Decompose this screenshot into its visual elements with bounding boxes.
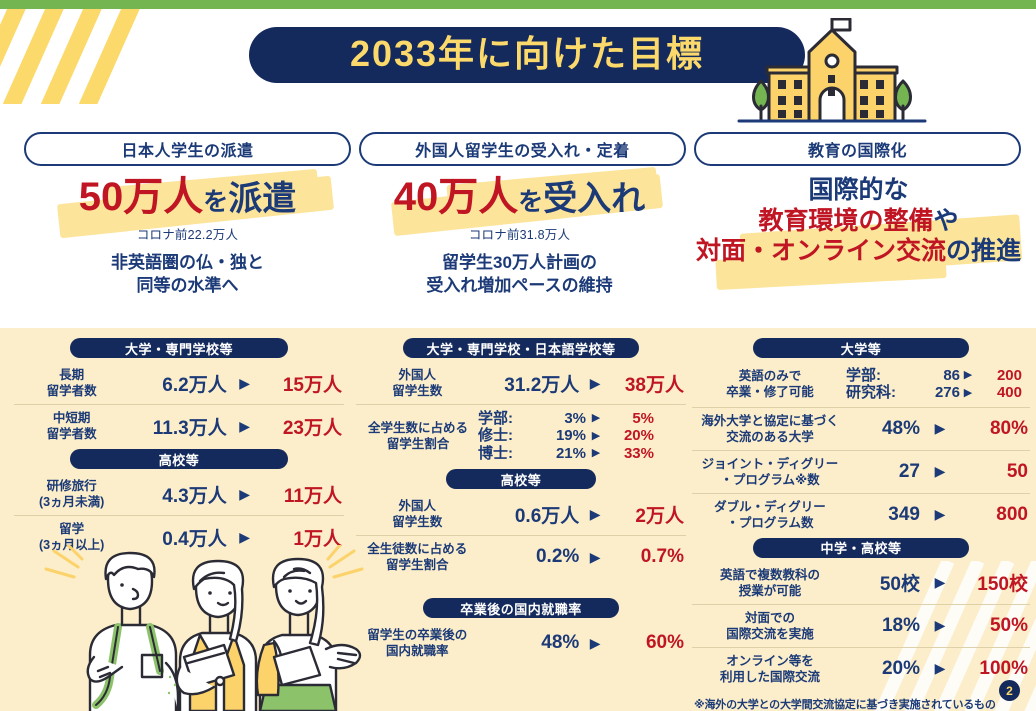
current-value: 48% xyxy=(477,632,580,654)
headline-subnote: コロナ前22.2万人 xyxy=(20,224,355,243)
tab-japanese-students-dispatch[interactable]: 日本人学生の派遣 xyxy=(24,132,351,166)
target-value: 60% xyxy=(611,632,684,654)
section-caption: 高校等 xyxy=(446,469,596,489)
column-foreign-students-acceptance: 大学・専門学校・日本語学校等 外国人 留学生数 31.2万人 ▶ 38万人 全学… xyxy=(356,338,686,664)
arrow-right-icon: ▶ xyxy=(227,418,263,435)
table-row: ダブル・ディグリー ・プログラム数 349 ▶ 800 xyxy=(692,494,1030,536)
current-value: 50校 xyxy=(846,569,920,596)
current-value: 0.2% xyxy=(477,546,580,568)
row-label: 全学生数に占める 留学生割合 xyxy=(358,420,478,452)
row-label-line1: 英語で複数教科の xyxy=(694,567,846,583)
row-label-line2: 留学生数 xyxy=(358,514,477,530)
row-label-line1: 留学生の卒業後の xyxy=(358,627,477,643)
headline-line2-b: や xyxy=(934,207,959,235)
sub-target: 5% xyxy=(606,410,654,427)
tab-label: 日本人学生の派遣 xyxy=(121,137,253,161)
row-label-line2: 留学生割合 xyxy=(358,436,478,452)
sub-current: 19% xyxy=(534,427,586,444)
headline-number: 50 xyxy=(79,175,124,219)
headline-verb: 派遣 xyxy=(228,180,296,218)
row-label-line2: 留学生割合 xyxy=(358,557,477,573)
headline-line1-b: な xyxy=(884,176,909,204)
current-value: 31.2万人 xyxy=(477,370,580,397)
sub-row: 学部: 86 ▶ 200 xyxy=(846,367,1022,384)
target-value: 23万人 xyxy=(262,413,342,440)
row-label-line2: 国際交流を実施 xyxy=(694,626,846,642)
table-row: 外国人 留学生数 31.2万人 ▶ 38万人 xyxy=(356,362,686,405)
current-value: 48% xyxy=(846,418,920,440)
target-value: 800 xyxy=(960,504,1028,526)
row-label: ジョイント・ディグリー ・プログラム※数 xyxy=(694,456,846,488)
row-label-line1: 対面での xyxy=(694,610,846,626)
arrow-right-icon: ▶ xyxy=(920,574,960,591)
target-value: 2万人 xyxy=(611,501,684,528)
row-label-line2: ・プログラム数 xyxy=(694,515,846,531)
arrow-right-icon: ▶ xyxy=(579,375,611,392)
column-japanese-students-dispatch: 大学・専門学校等 長期 留学者数 6.2万人 ▶ 15万人 中短期 留学者数 1… xyxy=(14,338,344,558)
row-label-line1: 英語のみで xyxy=(694,368,846,384)
arrow-right-icon: ▶ xyxy=(227,375,263,392)
sub-key: 学部: xyxy=(846,367,908,384)
arrow-right-icon: ▶ xyxy=(579,506,611,523)
row-label: 英語のみで 卒業・修了可能 xyxy=(694,368,846,400)
slide-title-banner: 2033年に向けた目標 xyxy=(249,27,805,83)
headline-dispatch: 50万人を派遣 コロナ前22.2万人 非英語圏の仏・独と 同等の水準へ xyxy=(20,176,355,297)
sub-row: 研究科: 276 ▶ 400 xyxy=(846,384,1022,401)
sub-target: 20% xyxy=(606,427,654,444)
arrow-right-icon: ▶ xyxy=(227,529,263,546)
row-sub-values: 学部: 86 ▶ 200 研究科: 276 ▶ 400 xyxy=(846,367,1022,402)
sub-current: 21% xyxy=(534,445,586,462)
table-row: 中短期 留学者数 11.3万人 ▶ 23万人 xyxy=(14,405,344,447)
current-value: 4.3万人 xyxy=(127,481,226,508)
table-row: 留学生の卒業後の 国内就職率 48% ▶ 60% xyxy=(356,622,686,664)
arrow-right-icon: ▶ xyxy=(586,412,606,425)
row-sub-values: 学部: 3% ▶ 5% 修士: 19% ▶ 20% 博士: 21% ▶ xyxy=(478,410,654,462)
headline-line2-a: 教育環境の整備 xyxy=(758,207,933,235)
row-label-line2: 留学者数 xyxy=(16,426,127,442)
table-row: 全生徒数に占める 留学生割合 0.2% ▶ 0.7% xyxy=(356,536,686,578)
row-label: 外国人 留学生数 xyxy=(358,367,477,399)
sub-current: 3% xyxy=(534,410,586,427)
headline-unit: 万人 xyxy=(123,175,203,219)
arrow-right-icon: ▶ xyxy=(920,506,960,523)
section-caption: 大学・専門学校等 xyxy=(70,338,288,358)
arrow-right-icon: ▶ xyxy=(227,486,263,503)
headline-line3: 対面・オンライン交流の推進 xyxy=(686,236,1031,266)
headline-verb: 受入れ xyxy=(543,180,645,218)
row-label: 中短期 留学者数 xyxy=(16,410,127,442)
row-label-line2: 国内就職率 xyxy=(358,643,477,659)
row-label-line1: 中短期 xyxy=(16,410,127,426)
arrow-right-icon: ▶ xyxy=(920,617,960,634)
target-value: 50 xyxy=(960,461,1028,483)
row-label: 海外大学と協定に基づく 交流のある大学 xyxy=(694,413,846,445)
target-value: 11万人 xyxy=(262,481,342,508)
sub-row: 学部: 3% ▶ 5% xyxy=(478,410,654,427)
top-green-bar xyxy=(0,0,1036,9)
slide-root: 2033年に向けた目標 xyxy=(0,0,1036,711)
headline-unit: 万人 xyxy=(438,175,518,219)
current-value: 349 xyxy=(846,504,920,526)
target-value: 0.7% xyxy=(611,546,684,568)
sub-key: 研究科: xyxy=(846,384,908,401)
tab-internationalization-of-education[interactable]: 教育の国際化 xyxy=(694,132,1021,166)
section-caption: 大学等 xyxy=(753,338,969,358)
headline-main: 40万人を受入れ xyxy=(352,176,687,219)
table-row-multi: 英語のみで 卒業・修了可能 学部: 86 ▶ 200 研究科: 276 ▶ 40… xyxy=(692,362,1030,408)
current-value: 6.2万人 xyxy=(127,370,226,397)
row-label-line1: 留学 xyxy=(16,521,127,537)
row-label: 外国人 留学生数 xyxy=(358,498,477,530)
headline-internationalization: 国際的な 教育環境の整備や 対面・オンライン交流の推進 xyxy=(686,176,1031,266)
row-label-line1: 長期 xyxy=(16,367,127,383)
arrow-right-icon: ▶ xyxy=(920,420,960,437)
row-label-line1: 外国人 xyxy=(358,498,477,514)
target-value: 150校 xyxy=(960,569,1028,596)
row-label: 研修旅行 (3ヵ月未満) xyxy=(16,478,127,510)
sub-current: 276 xyxy=(908,384,960,401)
table-row: 海外大学と協定に基づく 交流のある大学 48% ▶ 80% xyxy=(692,408,1030,451)
row-label-line1: 全生徒数に占める xyxy=(358,541,477,557)
table-row: 長期 留学者数 6.2万人 ▶ 15万人 xyxy=(14,362,344,405)
row-label-line1: 研修旅行 xyxy=(16,478,127,494)
page-number-badge: 2 xyxy=(999,680,1020,701)
table-row: ジョイント・ディグリー ・プログラム※数 27 ▶ 50 xyxy=(692,451,1030,494)
arrow-right-icon: ▶ xyxy=(960,369,976,382)
table-row: 研修旅行 (3ヵ月未満) 4.3万人 ▶ 11万人 xyxy=(14,473,344,516)
headline-acceptance: 40万人を受入れ コロナ前31.8万人 留学生30万人計画の 受入れ増加ペースの… xyxy=(352,176,687,297)
headline-line1-a: 国際的 xyxy=(808,176,883,204)
page-number: 2 xyxy=(1006,684,1013,698)
arrow-right-icon: ▶ xyxy=(579,635,611,652)
headline-detail-line1: 留学生30万人計画の xyxy=(352,252,687,274)
arrow-right-icon: ▶ xyxy=(579,549,611,566)
headline-subnote: コロナ前31.8万人 xyxy=(352,224,687,243)
decorative-stripes-top-left xyxy=(0,9,220,104)
sub-target: 200 xyxy=(976,367,1022,384)
row-label-line1: ダブル・ディグリー xyxy=(694,499,846,515)
headline-detail-line2: 受入れ増加ペースの維持 xyxy=(352,275,687,297)
row-label-line2: 利用した国際交流 xyxy=(694,669,846,685)
row-label-line1: 海外大学と協定に基づく xyxy=(694,413,846,429)
section-caption: 中学・高校等 xyxy=(753,538,969,558)
current-value: 18% xyxy=(846,615,920,637)
headline-row: 50万人を派遣 コロナ前22.2万人 非英語圏の仏・独と 同等の水準へ 40万人… xyxy=(0,176,1036,326)
current-value: 11.3万人 xyxy=(127,413,226,440)
headline-number: 40 xyxy=(394,175,439,219)
headline-detail: 非英語圏の仏・独と 同等の水準へ xyxy=(20,252,355,297)
students-illustration xyxy=(38,545,368,711)
section-caption: 大学・専門学校・日本語学校等 xyxy=(403,338,639,358)
table-row: 外国人 留学生数 0.6万人 ▶ 2万人 xyxy=(356,493,686,536)
arrow-right-icon: ▶ xyxy=(586,447,606,460)
headline-particle: を xyxy=(518,188,543,216)
headline-line2: 教育環境の整備や xyxy=(686,206,1031,236)
headline-detail-line1: 非英語圏の仏・独と xyxy=(20,252,355,274)
column-internationalization-of-education: 大学等 英語のみで 卒業・修了可能 学部: 86 ▶ 200 研究科: 276 xyxy=(692,338,1030,711)
sub-target: 33% xyxy=(606,445,654,462)
row-label-line2: 留学生数 xyxy=(358,383,477,399)
headline-line1: 国際的な xyxy=(686,176,1031,206)
footnote: ※海外の大学との大学間交流協定に基づき実施されているもの xyxy=(692,696,1030,711)
headline-particle: を xyxy=(203,188,228,216)
row-label-line2: ・プログラム※数 xyxy=(694,472,846,488)
section-caption: 高校等 xyxy=(70,449,288,469)
row-label: 対面での 国際交流を実施 xyxy=(694,610,846,642)
current-value: 20% xyxy=(846,658,920,680)
page-title: 2033年に向けた目標 xyxy=(350,36,704,75)
tab-label: 外国人留学生の受入れ・定着 xyxy=(415,137,630,161)
sub-row: 博士: 21% ▶ 33% xyxy=(478,445,654,462)
row-label-line1: 全学生数に占める xyxy=(358,420,478,436)
tab-foreign-students-acceptance[interactable]: 外国人留学生の受入れ・定着 xyxy=(359,132,686,166)
sub-key: 学部: xyxy=(478,410,534,427)
headline-main: 50万人を派遣 xyxy=(20,176,355,219)
table-row: 英語で複数教科の 授業が可能 50校 ▶ 150校 xyxy=(692,562,1030,605)
row-label-line1: オンライン等を xyxy=(694,653,846,669)
row-label-line2: 交流のある大学 xyxy=(694,429,846,445)
table-row: オンライン等を 利用した国際交流 20% ▶ 100% xyxy=(692,648,1030,690)
current-value: 0.6万人 xyxy=(477,501,580,528)
section-caption: 卒業後の国内就職率 xyxy=(423,598,619,618)
arrow-right-icon: ▶ xyxy=(920,463,960,480)
row-label-line2: 授業が可能 xyxy=(694,583,846,599)
headline-line3-a: 対面・オンライン交流 xyxy=(696,237,946,265)
tab-label: 教育の国際化 xyxy=(808,137,907,161)
target-value: 80% xyxy=(960,418,1028,440)
row-label-line1: 外国人 xyxy=(358,367,477,383)
row-label: ダブル・ディグリー ・プログラム数 xyxy=(694,499,846,531)
headline-detail: 留学生30万人計画の 受入れ増加ペースの維持 xyxy=(352,252,687,297)
target-value: 38万人 xyxy=(611,370,684,397)
current-value: 27 xyxy=(846,461,920,483)
row-label: 英語で複数教科の 授業が可能 xyxy=(694,567,846,599)
sub-key: 修士: xyxy=(478,427,534,444)
row-label-line2: 卒業・修了可能 xyxy=(694,384,846,400)
target-value: 15万人 xyxy=(262,370,342,397)
row-label-line2: (3ヵ月未満) xyxy=(16,494,127,510)
row-label-line1: ジョイント・ディグリー xyxy=(694,456,846,472)
school-building-icon xyxy=(737,18,927,130)
table-row: 対面での 国際交流を実施 18% ▶ 50% xyxy=(692,605,1030,648)
row-label: 全生徒数に占める 留学生割合 xyxy=(358,541,477,573)
arrow-right-icon: ▶ xyxy=(586,430,606,443)
headline-line3-b: の推進 xyxy=(946,237,1021,265)
sub-row: 修士: 19% ▶ 20% xyxy=(478,427,654,444)
target-value: 50% xyxy=(960,615,1028,637)
arrow-right-icon: ▶ xyxy=(960,387,976,400)
row-label-line2: 留学者数 xyxy=(16,383,127,399)
category-tabs: 日本人学生の派遣 外国人留学生の受入れ・定着 教育の国際化 xyxy=(0,132,1036,168)
row-label: 長期 留学者数 xyxy=(16,367,127,399)
row-label: オンライン等を 利用した国際交流 xyxy=(694,653,846,685)
sub-current: 86 xyxy=(908,367,960,384)
sub-key: 博士: xyxy=(478,445,534,462)
target-value: 100% xyxy=(960,658,1028,680)
table-row-multi: 全学生数に占める 留学生割合 学部: 3% ▶ 5% 修士: 19% ▶ 20% xyxy=(356,405,686,467)
arrow-right-icon: ▶ xyxy=(920,660,960,677)
sub-target: 400 xyxy=(976,384,1022,401)
headline-detail-line2: 同等の水準へ xyxy=(20,275,355,297)
row-label: 留学生の卒業後の 国内就職率 xyxy=(358,627,477,659)
